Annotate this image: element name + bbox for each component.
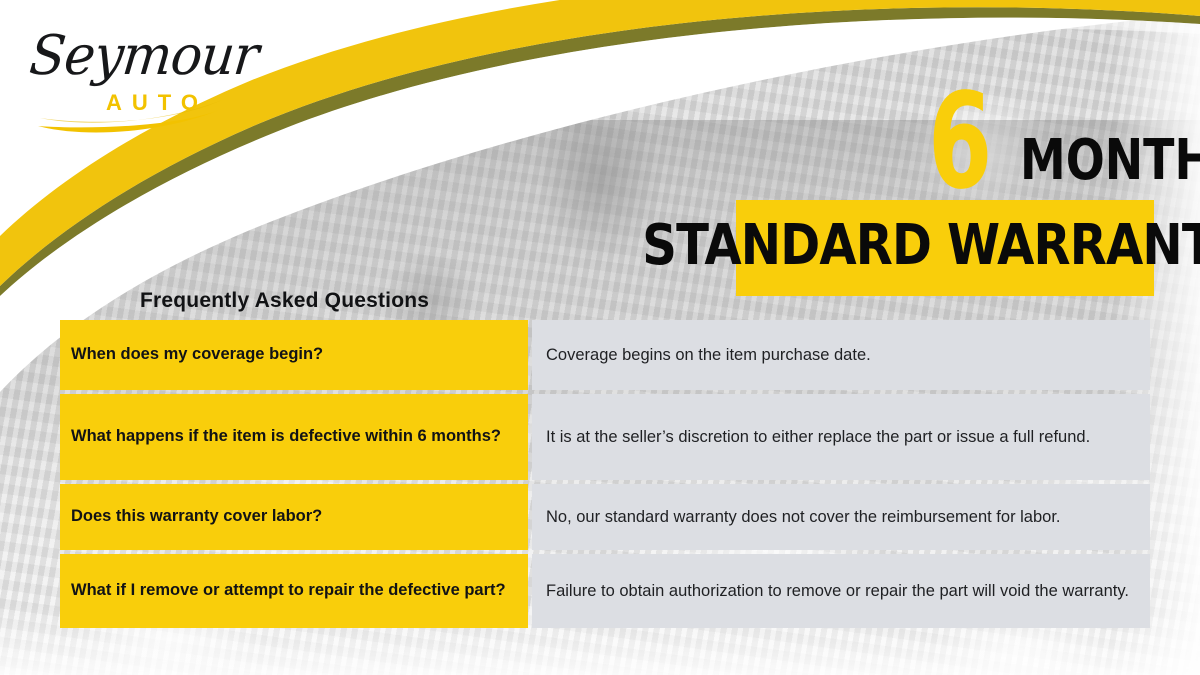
faq-question-cell: What happens if the item is defective wi… xyxy=(60,394,528,480)
faq-answer-text: Failure to obtain authorization to remov… xyxy=(546,580,1129,602)
faq-question-text: What if I remove or attempt to repair th… xyxy=(71,580,506,602)
warranty-title-block: STANDARD WARRANTY xyxy=(736,200,1154,296)
faq-question-text: What happens if the item is defective wi… xyxy=(71,426,501,448)
warranty-slide: Seymour AUTO 6 MONTH STANDARD WARRANTY F… xyxy=(0,0,1200,675)
seymour-auto-logo: Seymour AUTO xyxy=(24,22,254,137)
faq-answer-cell: Coverage begins on the item purchase dat… xyxy=(532,320,1150,390)
table-row: Does this warranty cover labor? No, our … xyxy=(60,484,1150,550)
logo-subwordmark: AUTO xyxy=(106,90,208,116)
warranty-title: STANDARD WARRANTY xyxy=(642,218,1200,278)
duration-unit: MONTH xyxy=(1020,137,1200,184)
faq-question-cell: Does this warranty cover labor? xyxy=(60,484,528,550)
table-row: When does my coverage begin? Coverage be… xyxy=(60,320,1150,390)
faq-answer-cell: It is at the seller’s discretion to eith… xyxy=(532,394,1150,480)
faq-question-cell: When does my coverage begin? xyxy=(60,320,528,390)
table-row: What happens if the item is defective wi… xyxy=(60,394,1150,480)
faq-question-cell: What if I remove or attempt to repair th… xyxy=(60,554,528,628)
faq-question-text: When does my coverage begin? xyxy=(71,344,323,366)
table-row: What if I remove or attempt to repair th… xyxy=(60,554,1150,628)
faq-answer-text: No, our standard warranty does not cover… xyxy=(546,506,1061,528)
duration-number: 6 xyxy=(928,91,991,194)
faq-answer-text: Coverage begins on the item purchase dat… xyxy=(546,344,871,366)
faq-heading: Frequently Asked Questions xyxy=(140,289,429,313)
faq-answer-cell: No, our standard warranty does not cover… xyxy=(532,484,1150,550)
logo-wordmark: Seymour xyxy=(27,25,261,88)
duration-badge: 6 MONTH xyxy=(928,82,1160,190)
faq-answer-text: It is at the seller’s discretion to eith… xyxy=(546,426,1090,448)
faq-answer-cell: Failure to obtain authorization to remov… xyxy=(532,554,1150,628)
faq-question-text: Does this warranty cover labor? xyxy=(71,506,322,528)
faq-table: When does my coverage begin? Coverage be… xyxy=(60,320,1150,628)
